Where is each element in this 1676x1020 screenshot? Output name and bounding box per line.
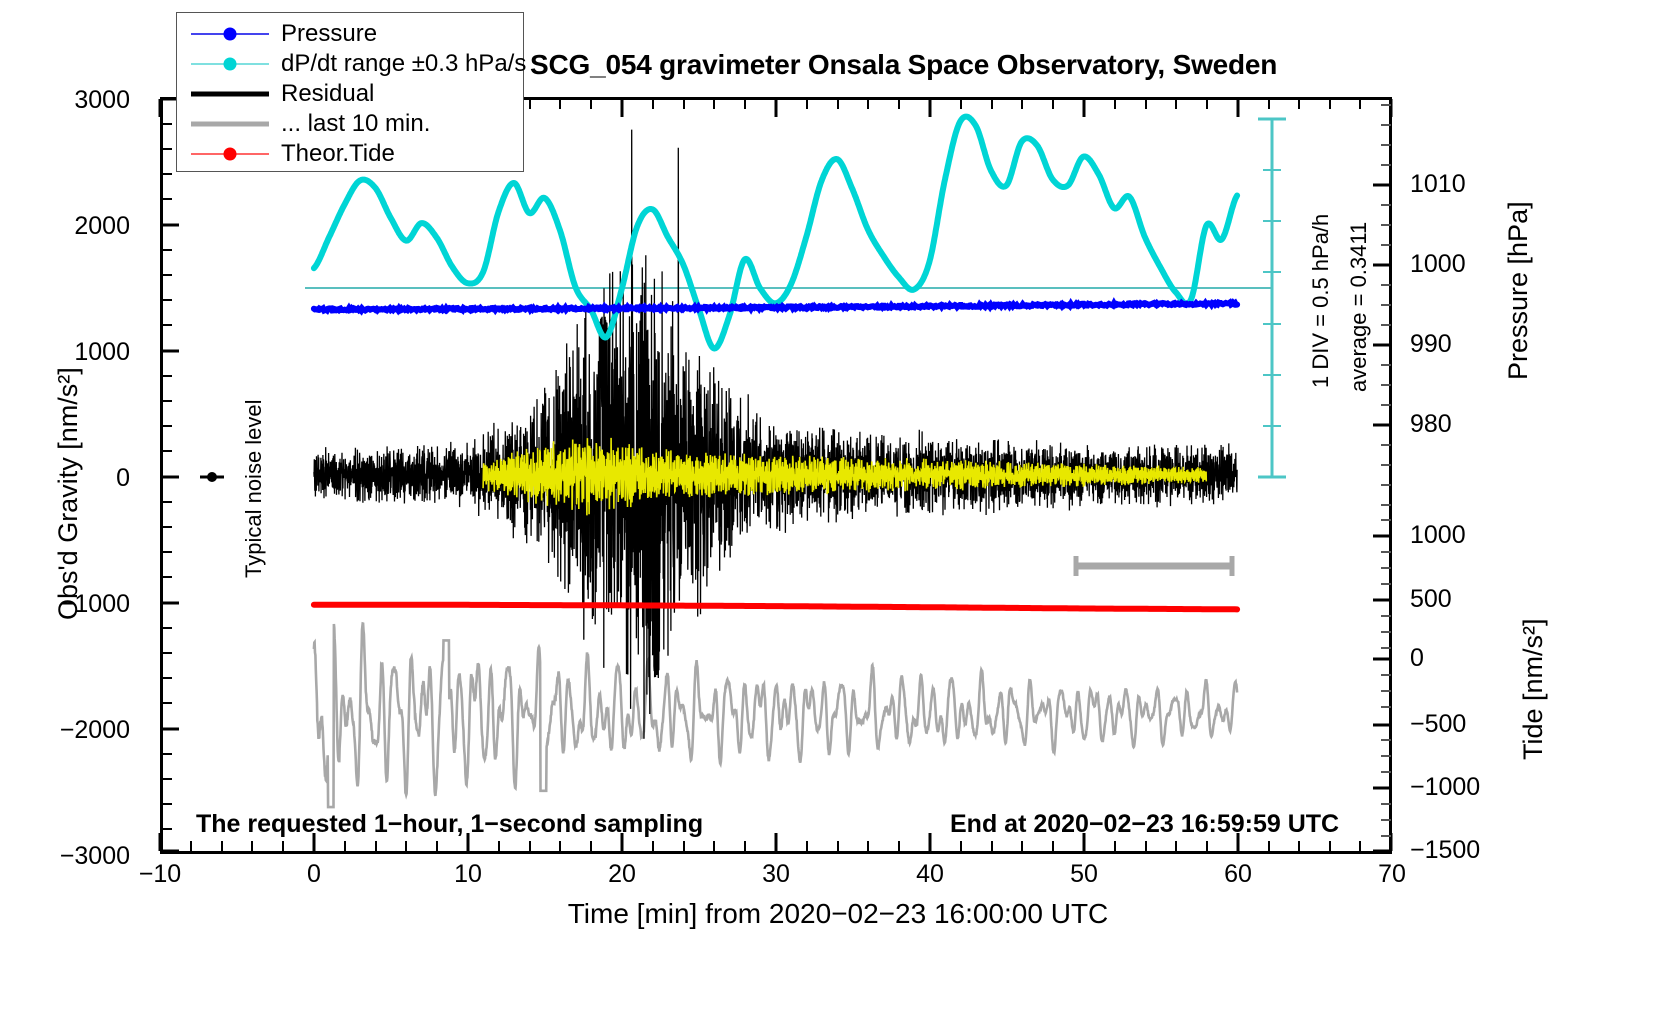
legend-swatch-pressure bbox=[187, 19, 273, 49]
legend-item-last-10-min[interactable]: ... last 10 min. bbox=[187, 109, 513, 139]
series-theor-tide bbox=[314, 605, 1237, 610]
legend-label-residual: Residual bbox=[273, 80, 374, 108]
legend-label-dpdt: dP/dt range ±0.3 hPa/s bbox=[273, 50, 526, 78]
cyan-dpdt-scale-axis bbox=[1258, 119, 1286, 477]
legend-label-last-10-min: ... last 10 min. bbox=[273, 110, 430, 138]
legend-swatch-dpdt bbox=[187, 49, 273, 79]
legend-label-theor-tide: Theor.Tide bbox=[273, 140, 395, 168]
legend-swatch-theor-tide bbox=[187, 139, 273, 169]
legend-item-dpdt[interactable]: dP/dt range ±0.3 hPa/s bbox=[187, 49, 513, 79]
legend[interactable]: Pressure dP/dt range ±0.3 hPa/s Residual… bbox=[176, 12, 524, 172]
series-residual bbox=[314, 130, 1237, 739]
legend-item-residual[interactable]: Residual bbox=[187, 79, 513, 109]
legend-swatch-last-10-min bbox=[187, 109, 273, 139]
ten-minute-scalebar bbox=[1076, 556, 1232, 576]
legend-item-pressure[interactable]: Pressure bbox=[187, 19, 513, 49]
left-axis-major-ticks bbox=[161, 99, 179, 851]
legend-item-theor-tide[interactable]: Theor.Tide bbox=[187, 139, 513, 169]
legend-label-pressure: Pressure bbox=[273, 20, 377, 48]
typical-noise-marker bbox=[200, 472, 224, 482]
legend-swatch-residual bbox=[187, 79, 273, 109]
series-last-10-min bbox=[314, 624, 1237, 808]
chart-canvas: SCG_054 gravimeter Onsala Space Observat… bbox=[0, 0, 1676, 1020]
